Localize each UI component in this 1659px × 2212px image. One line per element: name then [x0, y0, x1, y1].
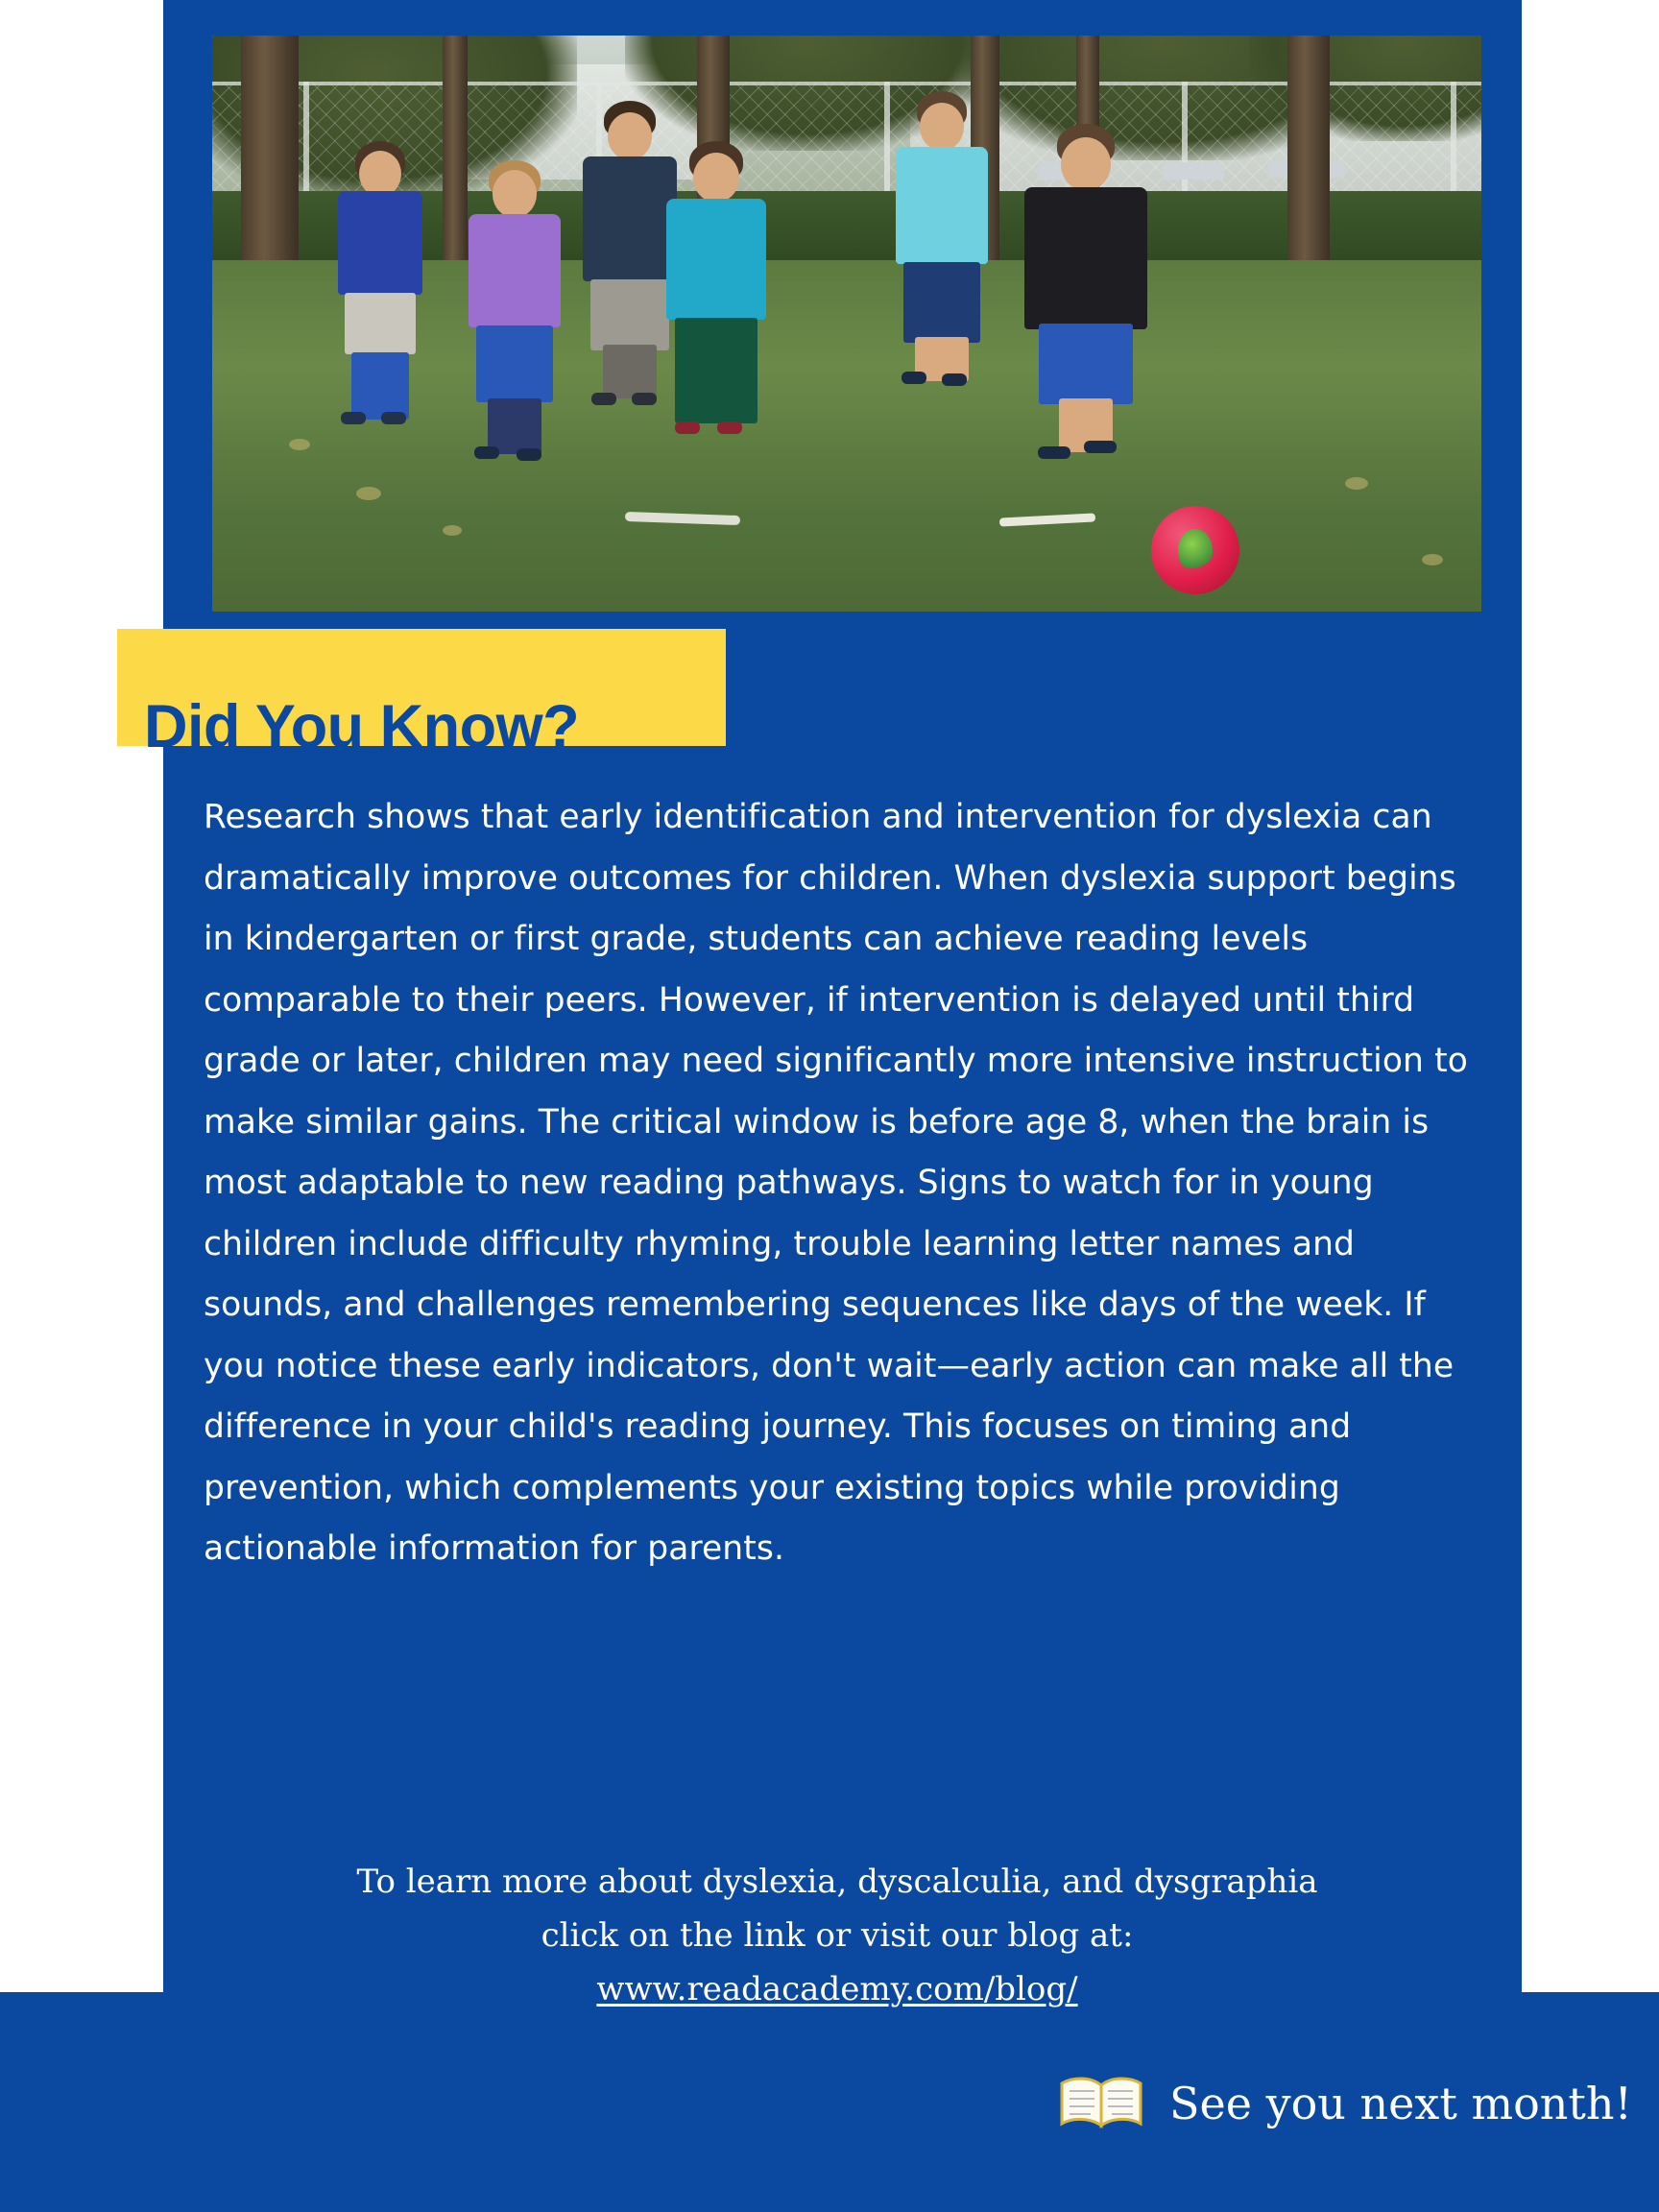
- photo-child-kicker: [1009, 124, 1163, 489]
- right-white-margin: [1522, 0, 1659, 1992]
- footer: See you next month!: [1058, 2074, 1632, 2133]
- blog-link[interactable]: www.readacademy.com/blog/: [596, 1970, 1077, 2008]
- photo-leaf: [443, 525, 462, 536]
- photo-child: [654, 141, 779, 468]
- call-to-action: To learn more about dyslexia, dyscalculi…: [204, 1855, 1471, 2016]
- photo-leaf: [1422, 554, 1443, 565]
- photo-leaf: [356, 487, 381, 500]
- photo-tree-trunk: [1287, 36, 1330, 285]
- body-paragraph: Research shows that early identification…: [204, 787, 1471, 1580]
- photo-child: [327, 141, 433, 429]
- footer-text: See you next month!: [1169, 2078, 1632, 2129]
- newsletter-page: Did You Know? Research shows that early …: [0, 0, 1659, 2212]
- cta-line-2: click on the link or visit our blog at:: [204, 1909, 1471, 1962]
- photo-car: [1163, 162, 1224, 180]
- page-title: Did You Know?: [144, 688, 720, 765]
- header-photo: [212, 36, 1481, 612]
- cta-line-1: To learn more about dyslexia, dyscalculi…: [204, 1855, 1471, 1909]
- photo-kickball-logo: [1178, 529, 1213, 571]
- cta-link-row: www.readacademy.com/blog/: [204, 1962, 1471, 2016]
- photo-child: [457, 160, 572, 468]
- photo-child: [884, 91, 999, 398]
- open-book-icon: [1058, 2074, 1144, 2133]
- photo-leaf: [289, 439, 310, 450]
- photo-leaf: [1345, 477, 1368, 490]
- photo-kickball: [1151, 506, 1239, 594]
